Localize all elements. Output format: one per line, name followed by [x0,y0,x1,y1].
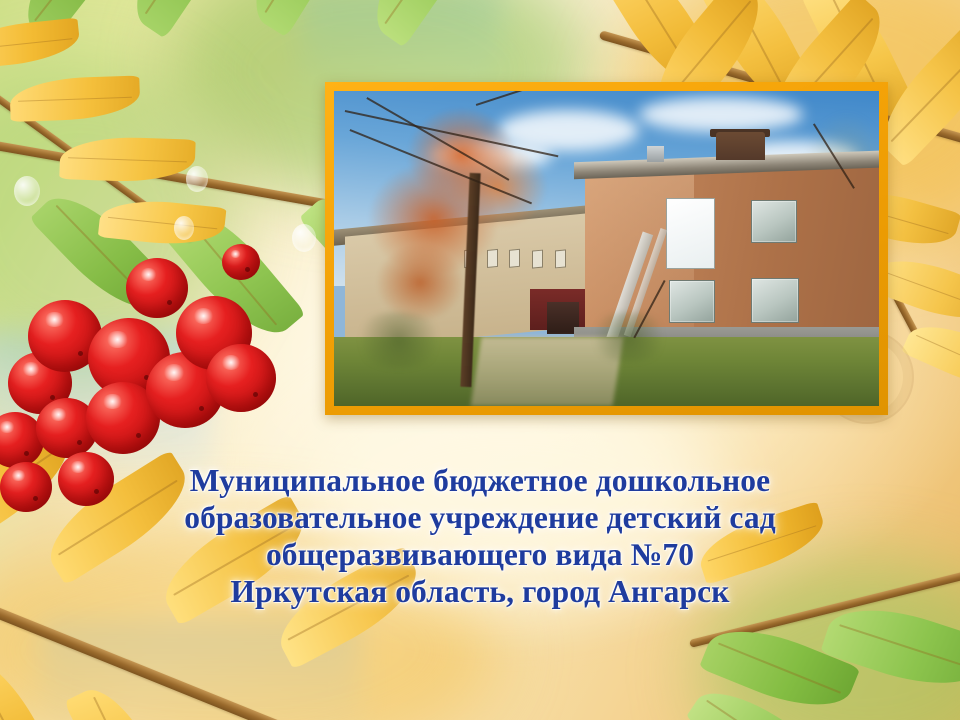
berry [222,244,260,280]
title-line-3: общеразвивающего вида №70 [0,536,960,573]
title-line-1: Муниципальное бюджетное дошкольное [0,462,960,499]
building-window [669,280,715,323]
stairwell-window [666,198,714,269]
shrub [585,312,672,362]
page-title: Муниципальное бюджетное дошкольное образ… [0,462,960,610]
roof-dormer [716,132,765,160]
kindergarten-building-photo [334,91,879,406]
dew-drop [186,166,208,192]
dew-drop [292,224,316,252]
title-slide: Муниципальное бюджетное дошкольное образ… [0,0,960,720]
building-window [751,200,797,243]
building-window [751,278,799,323]
roof-vent-pipe [647,146,663,162]
berry [206,344,276,412]
title-line-2: образовательное учреждение детский сад [0,499,960,536]
berry [126,258,188,318]
photo-frame [325,82,888,415]
cloud [639,97,803,132]
dew-drop [174,216,194,240]
dew-drop [14,176,40,206]
title-line-4: Иркутская область, город Ангарск [0,573,960,610]
